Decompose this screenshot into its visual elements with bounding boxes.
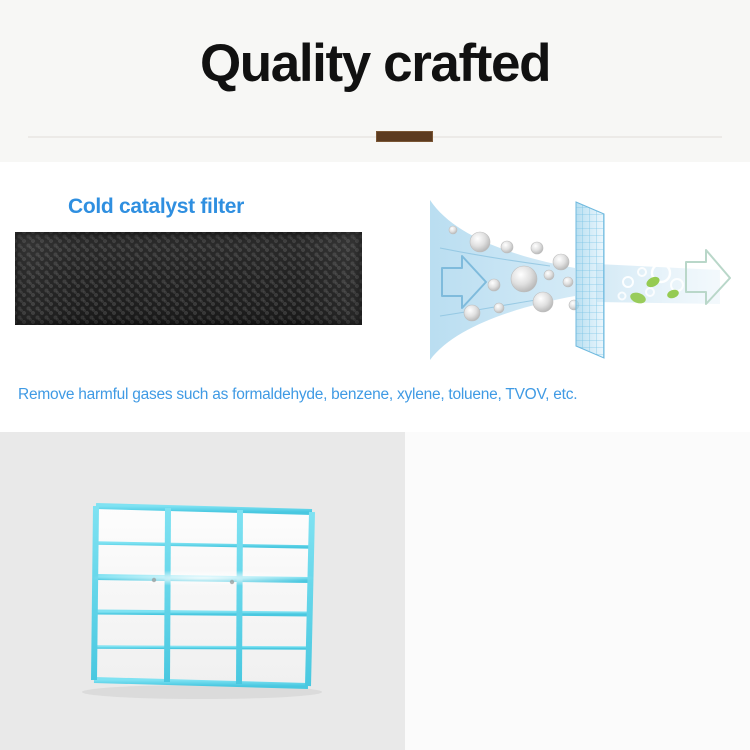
page-title: Quality crafted: [0, 36, 750, 92]
cold-catalyst-title: Cold catalyst filter: [68, 195, 244, 219]
header-divider-line: [28, 136, 722, 138]
airflow-filtration-diagram: [400, 200, 750, 360]
product-feature-page: Quality crafted Cold catalyst filter: [0, 0, 750, 750]
white-filter-text-panel: White high-density filter for excellence…: [405, 432, 750, 750]
honeycomb-carbon-filter-image: [15, 232, 362, 325]
filter-mesh-screen: [576, 202, 604, 358]
inlet-airflow-shape: [430, 200, 575, 360]
header-band: Quality crafted: [0, 0, 750, 162]
cold-catalyst-section: Cold catalyst filter: [0, 162, 750, 432]
outlet-airflow-shape: [597, 264, 720, 304]
header-accent-bar: [376, 131, 433, 142]
white-filter-image-panel: [0, 432, 405, 750]
white-high-density-filter-image: [50, 500, 355, 700]
cold-catalyst-caption: Remove harmful gases such as formaldehyd…: [18, 386, 734, 404]
